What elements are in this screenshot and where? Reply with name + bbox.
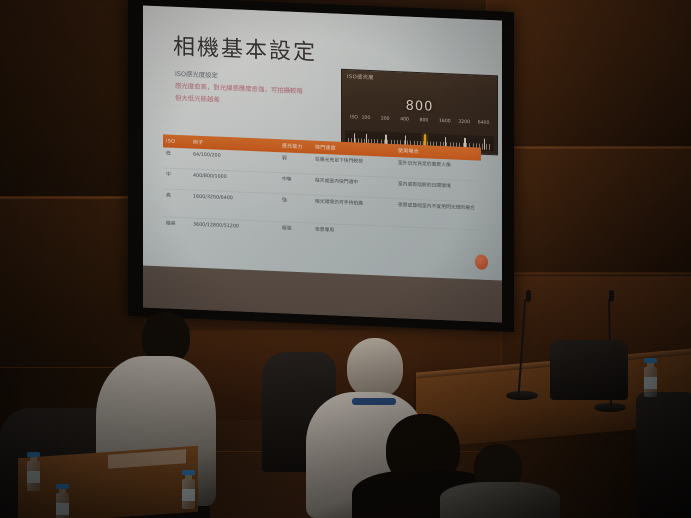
cell-shutter: 暗光環境仍可手持拍攝 [312,199,395,210]
iso-tick-label-3: 400 [400,117,409,122]
cell-shutter: 夜景專用 [312,227,395,238]
microphone-head [526,290,531,302]
cell-usage: 室外日光充足的風景人像 [395,160,481,171]
cell-example: 400/800/1000 [190,172,279,183]
cell-ability: 弱 [279,155,312,164]
iso-tick-minor [489,144,490,150]
table-header-usage: 使用場合 [395,147,481,158]
cell-iso: 高 [163,192,190,200]
iso-tick-label-6: 3200 [458,120,470,125]
bottle-body [644,367,657,397]
cell-shutter: 陰天或室內快門適中 [312,178,395,189]
wall-panel-left-upper [0,0,146,198]
iso-tick-label-7: 6400 [478,121,490,126]
slide-decoration-dot [475,254,488,270]
iso-selected-value: 800 [342,96,497,117]
slide-title: 相機基本設定 [173,29,317,67]
iso-panel-header: ISO感光度 [347,73,374,81]
wall-trim-right-lower [486,272,691,275]
chair [550,340,628,400]
iso-tick-label-0: ISO [350,115,358,120]
microphone-head [609,290,614,302]
cell-usage [395,230,481,234]
wall-trim-right [486,146,691,149]
person-head [347,338,403,398]
bottle-body [27,461,40,491]
wall-panel-right-lower [486,146,691,278]
table-header-shutter: 快門速度 [312,144,395,154]
slide-table: ISO 例子 感光能力 快門速度 使用場合 低 64/100/200 弱 在陽光… [163,134,481,250]
person-torso [440,482,560,518]
cell-usage: 室內或有陰影的日間環境 [395,181,481,192]
cell-iso: 低 [163,150,190,158]
person-lanyard [352,398,396,405]
iso-tick-labels: ISO 100 200 400 800 1600 3200 6400 [345,115,494,129]
cell-usage: 夜景或昏暗室內不宜用閃光燈的場合 [395,202,481,213]
bottle-label [56,503,69,515]
iso-tick-label-1: 100 [361,116,370,121]
cell-example: 3600/12800/51200 [190,221,279,232]
projector-screen-surface: 相機基本設定 ISO感光度設定 感光度愈高，對光線感應度愈強，可拍攝較暗 但大低… [143,5,502,322]
cell-iso: 極高 [163,220,190,228]
table-header-ability: 感光能力 [279,142,312,150]
table-header-iso: ISO [163,138,190,145]
iso-tick-label-2: 200 [381,116,390,121]
water-bottle [56,484,69,518]
bottle-body [182,479,195,509]
cell-example: 1600/3200/6400 [190,193,279,204]
bottle-label [644,377,657,389]
presentation-slide: 相機基本設定 ISO感光度設定 感光度愈高，對光線感應度愈強，可拍攝較暗 但大低… [143,5,502,280]
wall-panel-left-lower [0,196,146,368]
microphone-base [506,391,538,400]
bottle-body [56,493,69,518]
cell-example: 64/100/200 [190,151,279,162]
bottle-label [182,489,195,501]
iso-tick-major [484,139,485,150]
water-bottle [182,470,195,509]
wall-panel-right-upper [486,0,691,148]
cell-ability: 極強 [279,225,312,234]
cell-ability: 強 [279,197,312,206]
iso-tick-label-4: 800 [420,118,429,123]
bottle-label [27,471,40,483]
conference-room-photo: 相機基本設定 ISO感光度設定 感光度愈高，對光線感應度愈強，可拍攝較暗 但大低… [0,0,691,518]
table-header-example: 例子 [190,138,279,149]
cell-iso: 中 [163,171,190,179]
water-bottle [644,358,657,397]
water-bottle [27,452,40,491]
iso-tick-label-5: 1600 [439,119,451,124]
cell-ability: 中等 [279,176,312,185]
iso-tick-minor [486,144,487,150]
chair [636,392,691,518]
cell-shutter: 在陽光充足下快門較快 [312,157,395,168]
slide-bullet-list: ISO感光度設定 感光度愈高，對光線感應度愈強，可拍攝較暗 但大低光能越差 [175,69,350,112]
